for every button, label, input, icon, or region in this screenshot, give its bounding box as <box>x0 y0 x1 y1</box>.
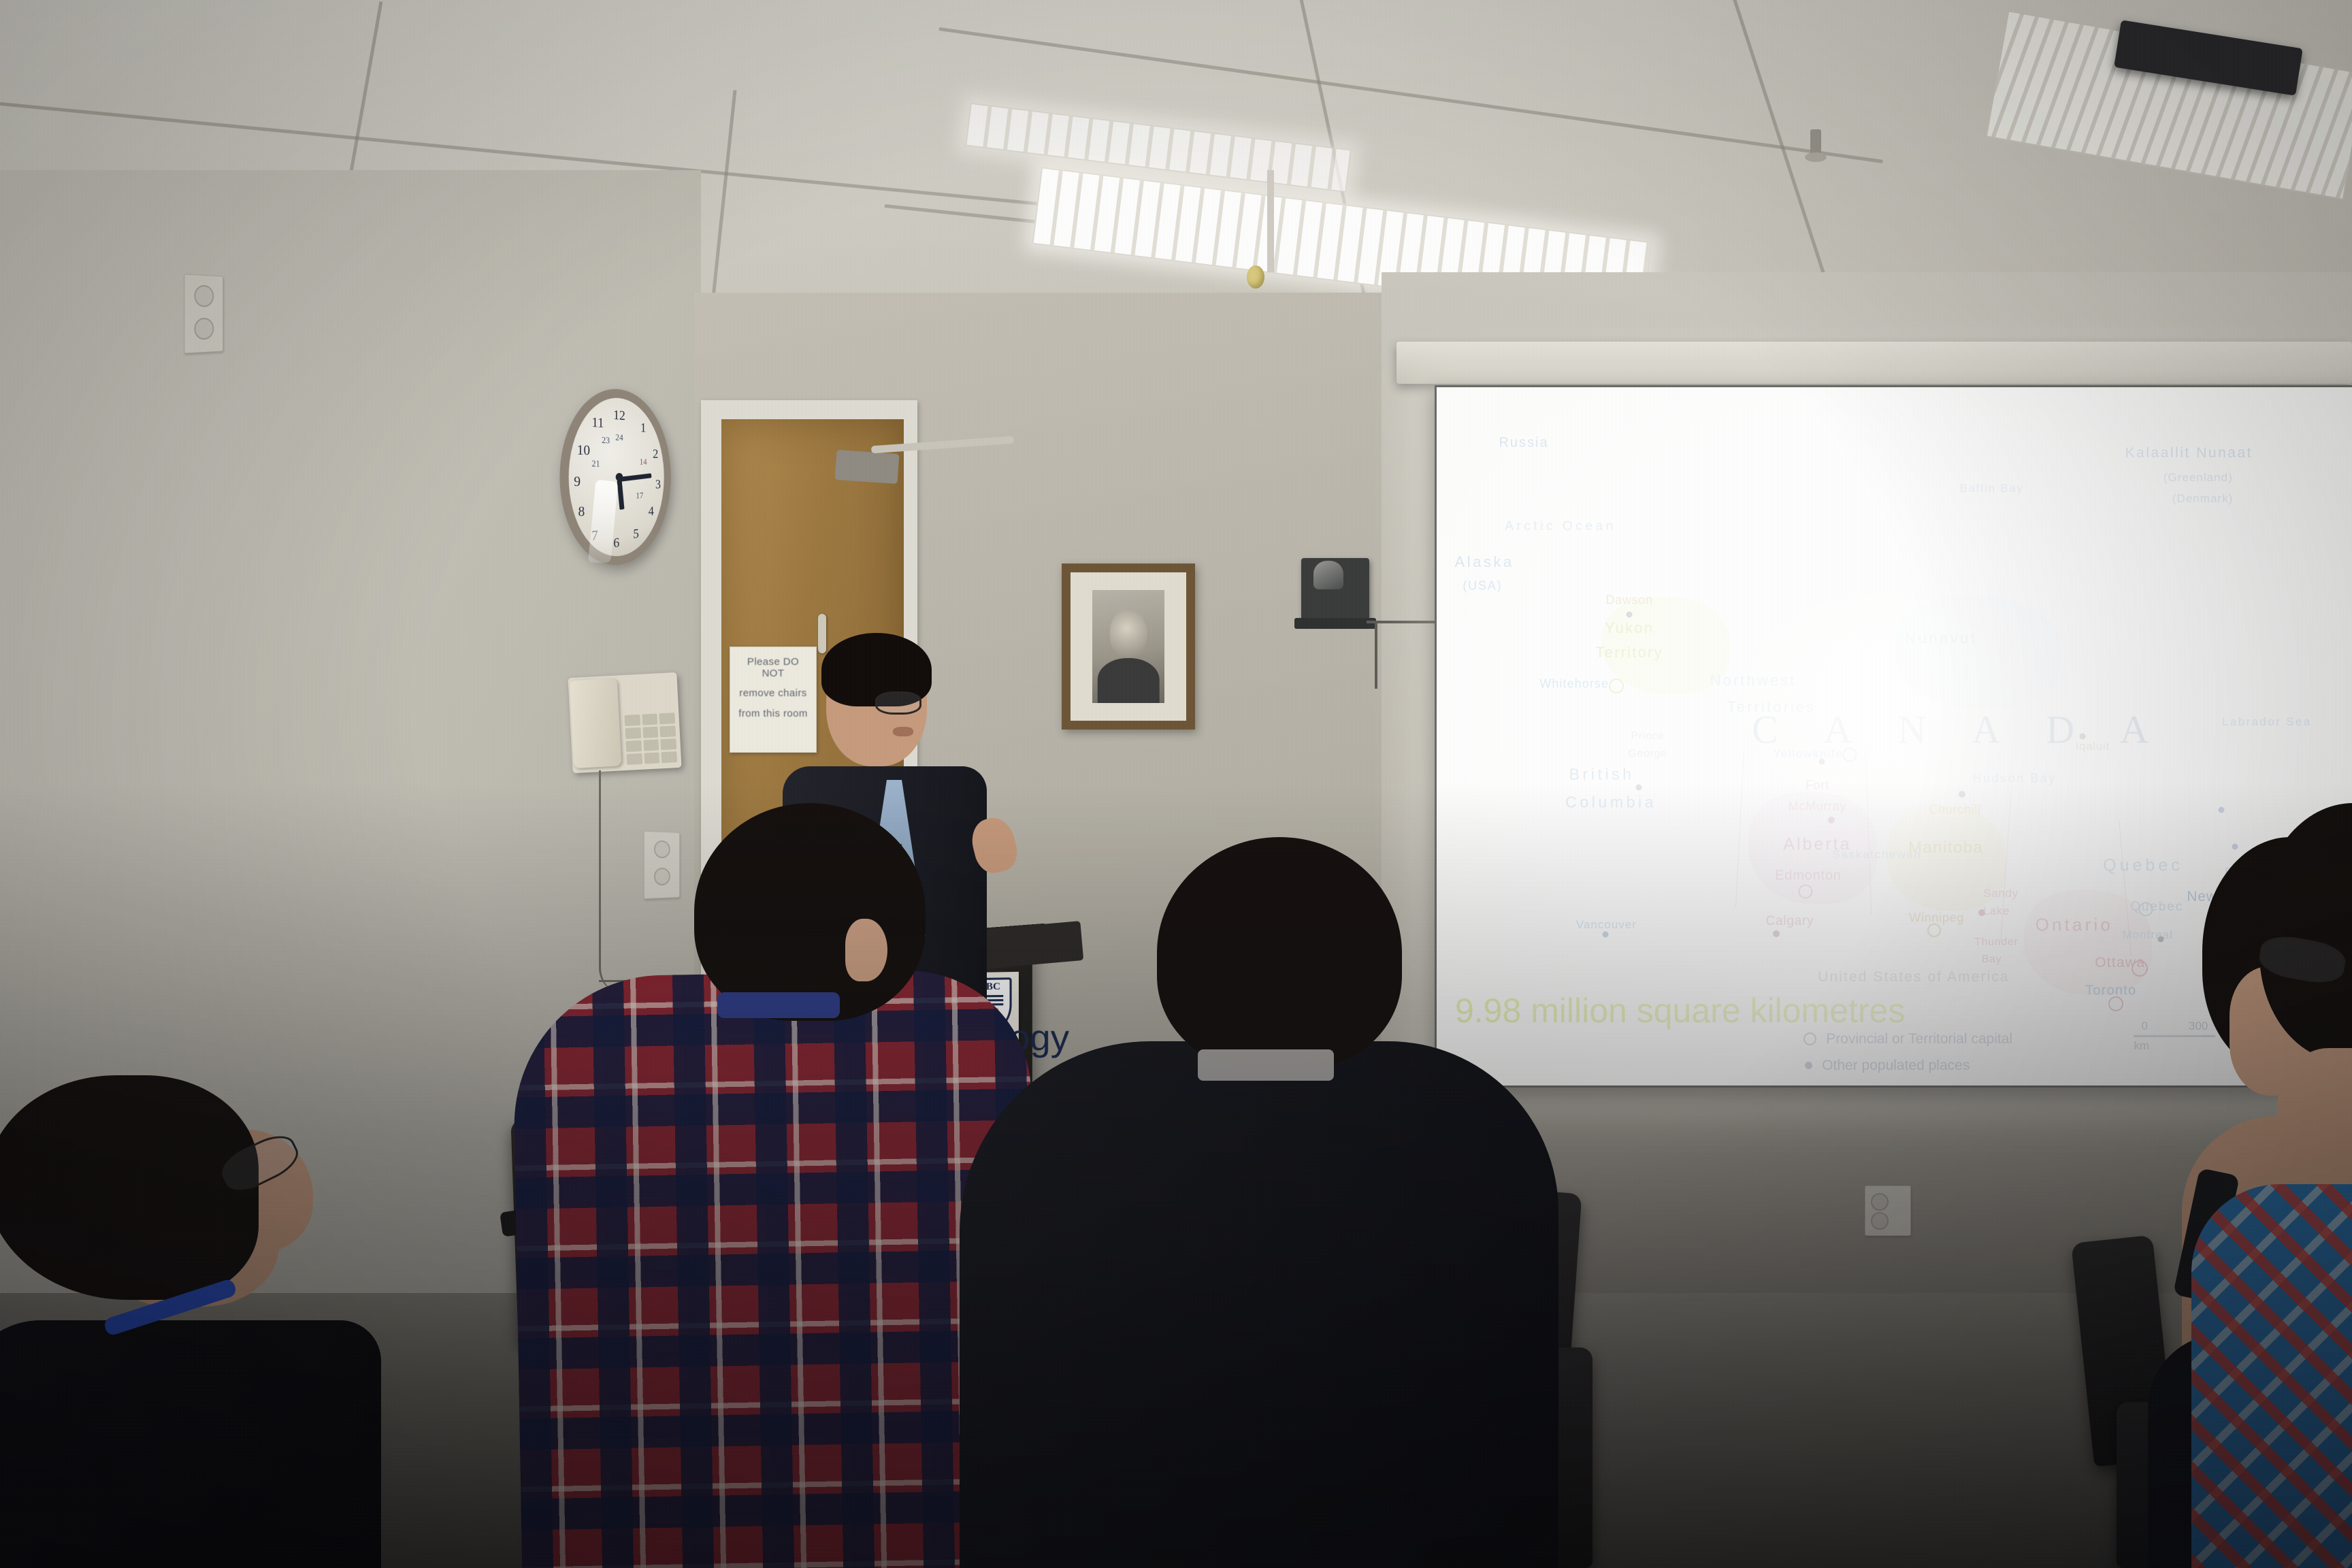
map-label: Calgary <box>1766 914 1814 929</box>
map-region-manitoba <box>1886 806 2006 911</box>
audience-plaid-hair <box>694 803 926 1021</box>
legend-row-populated: Other populated places <box>1803 1058 1970 1074</box>
map-label: Territories <box>1727 698 1816 716</box>
map-label: Bay <box>1982 953 2002 966</box>
lecture-room-photo: 12 1 2 3 4 5 6 7 8 9 10 11 24 23 21 14 1… <box>0 0 2352 1568</box>
map-city-dot <box>1959 791 1965 798</box>
scale-unit: km <box>2134 1039 2149 1053</box>
outlet-socket-bottom <box>1871 1212 1889 1230</box>
telephone-key[interactable] <box>642 727 658 738</box>
duplex-power-outlet[interactable] <box>184 274 223 353</box>
map-label: Russia <box>1499 436 1548 451</box>
audience-plaid-collar <box>717 992 840 1018</box>
clock-hour-hand <box>617 480 624 510</box>
framed-portrait-photograph <box>1062 563 1195 730</box>
map-country-label: C A N A D A <box>1752 706 2168 752</box>
outlet-socket-top <box>1871 1193 1889 1211</box>
wall-mounted-telephone[interactable] <box>568 672 681 773</box>
telephone-key[interactable] <box>661 751 677 763</box>
map-label: (Denmark) <box>2172 492 2233 506</box>
speaker-glasses <box>875 691 921 715</box>
legend-label-populated: Other populated places <box>1822 1058 1970 1074</box>
map-city-dot <box>1828 817 1835 823</box>
legend-row-capital: Provincial or Territorial capital <box>1803 1031 2012 1047</box>
map-city-dot <box>1635 784 1641 790</box>
map-city-dot <box>1627 612 1633 618</box>
outlet-socket-bottom <box>194 318 214 340</box>
audience-woman-left-hair <box>0 1075 259 1300</box>
map-label: Yellowknife <box>1773 747 1843 761</box>
map-label: Alaska <box>1455 553 1514 571</box>
portrait-mat <box>1071 572 1186 721</box>
clock-minute-hand <box>619 473 652 482</box>
scale-bar-line <box>2134 1035 2215 1037</box>
map-city-dot <box>2232 844 2238 850</box>
legend-filled-dot-icon <box>1805 1062 1812 1069</box>
map-label: Lake <box>1982 904 2010 918</box>
map-label: Iqaluit <box>2076 740 2110 753</box>
map-label: United States of America <box>1818 969 2010 985</box>
audience-dark-jacket-body <box>960 1041 1558 1568</box>
telephone-keypad[interactable] <box>625 713 677 765</box>
portrait-photo <box>1092 590 1164 703</box>
telephone-key[interactable] <box>627 753 642 765</box>
map-region-ontario <box>2024 890 2153 995</box>
clock-center-hub <box>616 473 623 481</box>
map-label: Winnipeg <box>1909 911 1964 925</box>
map-city-dot <box>2218 806 2224 813</box>
duplex-power-outlet[interactable] <box>1865 1186 1911 1236</box>
map-label: Thunder <box>1974 936 2018 949</box>
map-label: (Greenland) <box>2163 471 2233 485</box>
speaker-lens <box>1313 561 1343 589</box>
telephone-key[interactable] <box>626 740 642 752</box>
slide-title: 9.98 million square kilometres <box>1455 991 1905 1030</box>
audience-dark-jacket-collar <box>1198 1049 1334 1081</box>
map-label: Kalaallit Nunaat <box>2125 445 2253 461</box>
map-region-alberta <box>1748 792 1877 904</box>
speaker-mouth <box>893 727 913 736</box>
map-capital-marker <box>1842 747 1857 762</box>
map-label: Prince <box>1631 730 1664 742</box>
telephone-key[interactable] <box>660 725 676 737</box>
audience-right-patterned-top <box>2191 1184 2352 1568</box>
audience-woman-left-torso <box>0 1320 381 1568</box>
map-capital-marker <box>2108 996 2123 1011</box>
door-handle[interactable] <box>818 614 826 653</box>
door-closer <box>835 450 900 484</box>
map-city-dot <box>1978 909 1985 916</box>
map-city-dot <box>1819 758 1825 764</box>
map-capital-marker <box>1609 679 1624 693</box>
audience-plaid-ear <box>845 919 887 981</box>
map-label: George <box>1628 748 1667 760</box>
map-label: Arctic Ocean <box>1505 519 1616 534</box>
map-label: (USA) <box>1463 579 1502 593</box>
map-capital-marker <box>1798 884 1812 898</box>
telephone-key[interactable] <box>643 740 659 751</box>
telephone-handset[interactable] <box>570 678 622 768</box>
telephone-key[interactable] <box>625 728 641 739</box>
door-sign-line-2: remove chairs <box>739 688 806 700</box>
telephone-cord <box>599 770 664 995</box>
map-city-dot <box>1773 930 1780 937</box>
map-label: Whitehorse <box>1539 677 1609 691</box>
outlet-socket-top <box>194 284 214 307</box>
telephone-key[interactable] <box>642 714 657 725</box>
map-capital-marker <box>2139 902 2153 917</box>
map-label: Quebec <box>2103 855 2183 875</box>
telephone-key[interactable] <box>659 713 675 724</box>
map-border <box>1735 751 1744 907</box>
scale-min: 0 <box>2142 1019 2148 1033</box>
legend-open-circle-icon <box>1803 1032 1816 1045</box>
map-label: Fort <box>1806 778 1829 792</box>
device-cable-drop <box>1375 621 1377 689</box>
map-capital-marker <box>1927 924 1941 937</box>
map-label: Baffin Bay <box>1959 482 2023 495</box>
door-sign-line-1: Please DO NOT <box>736 657 811 679</box>
fire-sprinkler-head <box>1810 129 1821 158</box>
map-capital-marker <box>2131 960 2148 977</box>
ceiling-hook-ball <box>1247 265 1264 289</box>
projection-screen-housing <box>1396 342 2352 384</box>
map-scale-bar: 0 300 km <box>2134 1019 2215 1053</box>
door-sign-line-3: from this room <box>738 708 807 720</box>
telephone-key[interactable] <box>625 715 640 726</box>
door-sign: Please DO NOT remove chairs from this ro… <box>730 647 817 753</box>
map-city-dot <box>1603 932 1609 938</box>
wall-mounted-speaker-bracket <box>1301 558 1369 621</box>
telephone-key[interactable] <box>644 752 659 764</box>
map-label: Hudson Bay <box>1973 771 2057 785</box>
map-city-dot <box>2079 734 2085 740</box>
legend-label-capital: Provincial or Territorial capital <box>1826 1031 2012 1047</box>
map-region-nunavut <box>1895 597 2061 708</box>
speaker-shelf <box>1294 618 1376 629</box>
audience-dark-jacket-hair <box>1157 837 1402 1068</box>
scale-max: 300 <box>2189 1019 2208 1033</box>
map-label: British <box>1569 766 1635 784</box>
map-label: Vancouver <box>1576 918 1637 932</box>
map-label: Columbia <box>1565 794 1656 812</box>
telephone-key[interactable] <box>661 738 676 750</box>
ceiling-hook-wire <box>1267 170 1274 272</box>
map-label: Labrador Sea <box>2222 715 2312 729</box>
map-city-dot <box>2157 936 2163 942</box>
